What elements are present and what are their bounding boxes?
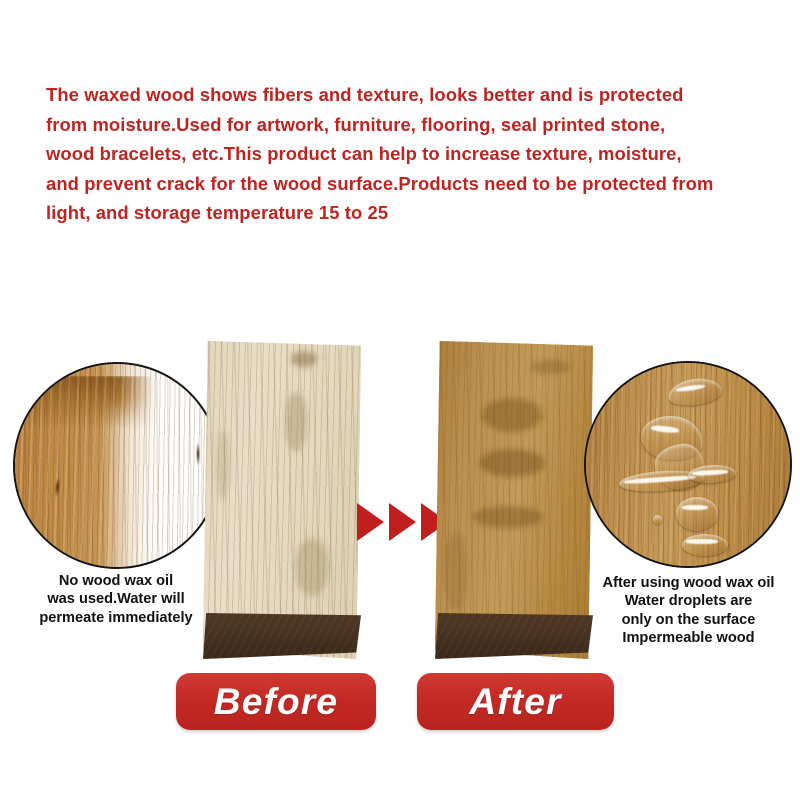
- badge-before-label: Before: [214, 681, 338, 723]
- board-end-grain-before: [203, 613, 361, 659]
- waxed-wood-texture: [586, 363, 790, 566]
- board-blemish: [216, 430, 230, 500]
- wet-wood-texture: [15, 364, 219, 567]
- board-blemish: [530, 360, 570, 374]
- board-grain-after: [435, 341, 593, 659]
- badge-after-label: After: [469, 681, 561, 723]
- droplet-highlight: [650, 425, 678, 434]
- droplet-highlight: [682, 505, 708, 510]
- droplet-highlight: [624, 474, 696, 484]
- wood-grain-highlights: [15, 364, 219, 567]
- wood-board-after: [435, 341, 593, 659]
- board-blemish: [295, 538, 329, 596]
- board-face-before: [203, 341, 361, 659]
- closeup-circle-after: [584, 361, 792, 568]
- arrow-right-icon: [357, 503, 384, 541]
- wood-board-before: [203, 341, 361, 659]
- caption-after: After using wood wax oil Water droplets …: [586, 574, 791, 648]
- caption-before: No wood wax oil was used.Water will perm…: [16, 572, 216, 627]
- board-face-after: [435, 341, 593, 659]
- droplet-highlight: [674, 384, 704, 393]
- description-paragraph: The waxed wood shows fibers and texture,…: [46, 80, 718, 228]
- board-end-grain-after: [435, 613, 593, 659]
- product-infographic: The waxed wood shows fibers and texture,…: [0, 0, 800, 800]
- water-droplet: [682, 534, 728, 556]
- droplet-highlight: [692, 469, 728, 476]
- wood-knot-mark-right: [195, 437, 201, 471]
- badge-after: After: [417, 673, 614, 730]
- badge-before: Before: [176, 673, 376, 730]
- board-blemish: [291, 351, 317, 367]
- board-grain-before: [203, 341, 361, 659]
- description-text: The waxed wood shows fibers and texture,…: [46, 80, 718, 228]
- closeup-circle-before: [13, 362, 221, 569]
- droplet-highlight: [686, 539, 718, 544]
- board-blemish: [285, 392, 307, 452]
- arrow-right-icon: [389, 503, 416, 541]
